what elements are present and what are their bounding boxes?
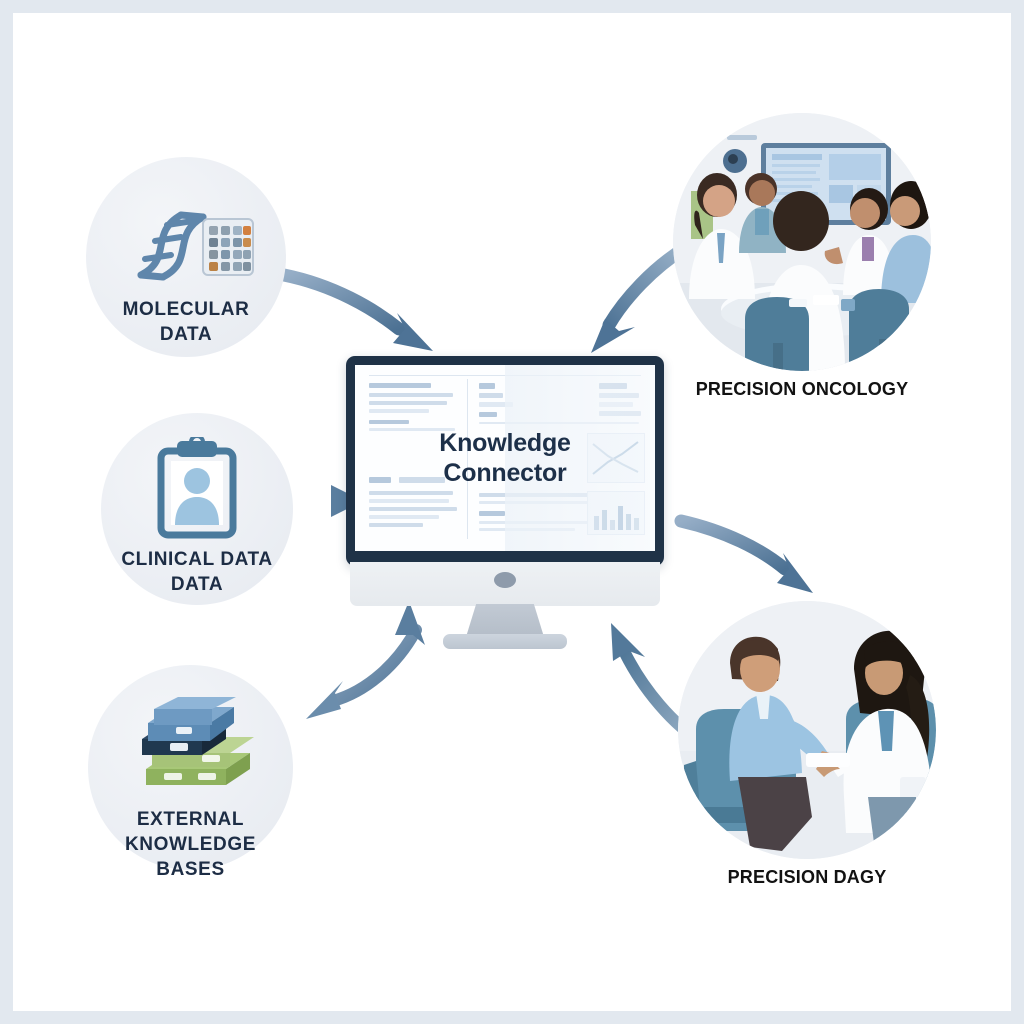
connector-title: Knowledge Connector — [346, 428, 664, 488]
knowledge-connector-monitor[interactable]: Knowledge Connector — [346, 356, 664, 651]
monitor-logo-icon — [494, 572, 516, 588]
source-label-molecular-data: MOLECULAR DATA — [86, 297, 286, 347]
source-label-line2: KNOWLEDGE BASES — [88, 832, 293, 882]
diagram-inner-canvas: MOLECULAR DATA CLINICAL DATA DATA — [13, 13, 1011, 1011]
source-node-molecular-data[interactable]: MOLECULAR DATA — [86, 157, 286, 357]
connector-title-line1: Knowledge — [346, 428, 664, 458]
diagram-canvas: MOLECULAR DATA CLINICAL DATA DATA — [0, 0, 1024, 1024]
source-label-line1: CLINICAL DATA — [101, 547, 293, 572]
connector-title-line2: Connector — [346, 458, 664, 488]
source-label-line2: DATA — [101, 572, 293, 597]
dna-helix-and-microarray-icon — [86, 189, 286, 283]
outcome-node-precision-dagy[interactable]: PRECISION DAGY — [678, 601, 936, 901]
monitor-stand-base — [443, 634, 567, 649]
outcome-label-text: PRECISION DAGY — [728, 867, 887, 887]
outcome-label-precision-oncology: PRECISION ONCOLOGY — [653, 379, 951, 400]
clipboard-patient-record-icon — [101, 437, 293, 539]
source-label-clinical-data: CLINICAL DATA DATA — [101, 547, 293, 597]
source-label-line1: EXTERNAL — [88, 807, 293, 832]
doctor-patient-consultation-illustration — [678, 601, 936, 859]
tumor-board-meeting-illustration — [673, 113, 931, 371]
monitor-stand-neck — [466, 604, 544, 637]
source-label-line2: DATA — [86, 322, 286, 347]
outcome-label-precision-dagy: PRECISION DAGY — [658, 867, 956, 888]
stacked-binders-icon — [88, 697, 293, 801]
source-label-line1: MOLECULAR — [86, 297, 286, 322]
source-label-external-knowledge-bases: EXTERNAL KNOWLEDGE BASES — [88, 807, 293, 882]
source-node-clinical-data[interactable]: CLINICAL DATA DATA — [101, 413, 293, 605]
outcome-node-precision-oncology[interactable]: PRECISION ONCOLOGY — [673, 113, 931, 413]
outcome-label-text: PRECISION ONCOLOGY — [696, 379, 909, 399]
source-node-external-knowledge-bases[interactable]: EXTERNAL KNOWLEDGE BASES — [88, 665, 293, 870]
